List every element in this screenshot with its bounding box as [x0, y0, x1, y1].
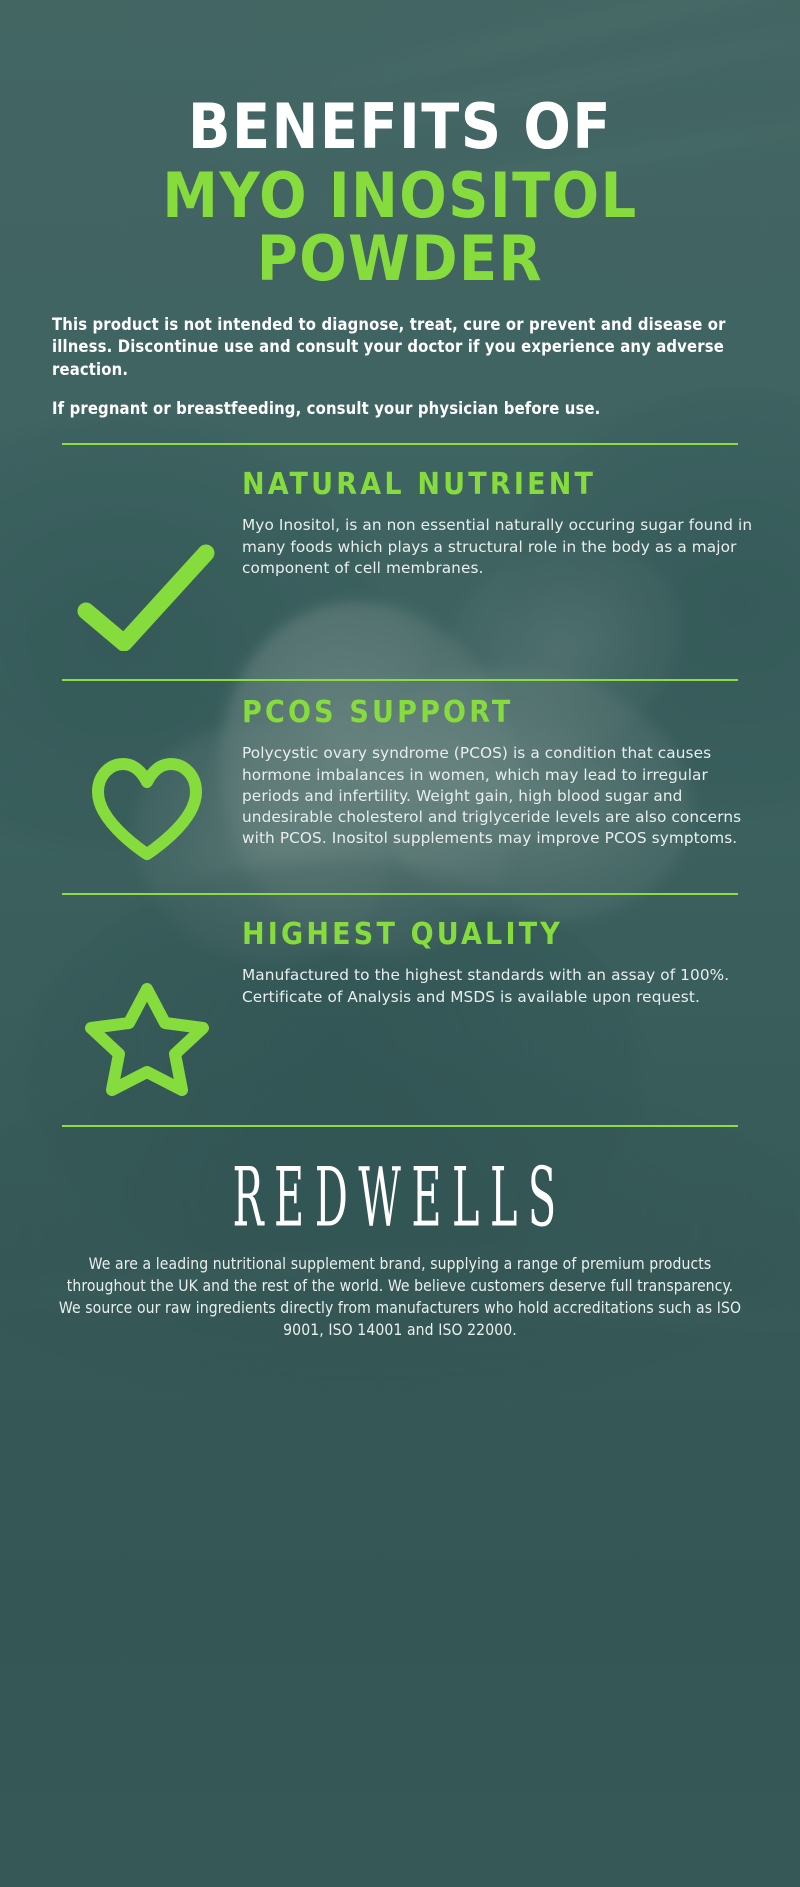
- headline-line-1: BENEFITS OF: [0, 98, 800, 156]
- benefit-title: HIGHEST QUALITY: [242, 917, 754, 954]
- benefit-body: Myo Inositol, is an non essential natura…: [242, 515, 754, 578]
- infographic-page: BENEFITS OF MYO INOSITOL POWDER This pro…: [0, 0, 800, 1887]
- page-title: BENEFITS OF MYO INOSITOL POWDER: [0, 0, 800, 288]
- heart-icon: [86, 753, 208, 865]
- benefit-text-container: HIGHEST QUALITY Manufactured to the high…: [242, 917, 760, 1008]
- benefit-icon-container: [52, 467, 242, 651]
- section-divider: [62, 443, 738, 445]
- benefit-body: Manufactured to the highest standards wi…: [242, 965, 754, 1007]
- disclaimer-paragraph-1: This product is not intended to diagnose…: [52, 314, 748, 381]
- benefit-section-natural-nutrient: NATURAL NUTRIENT Myo Inositol, is an non…: [0, 467, 800, 651]
- benefit-section-pcos-support: PCOS SUPPORT Polycystic ovary syndrome (…: [0, 695, 800, 865]
- star-icon: [85, 979, 209, 1097]
- benefit-title: PCOS SUPPORT: [242, 695, 754, 732]
- benefit-icon-container: [52, 695, 242, 865]
- disclaimer-paragraph-2: If pregnant or breastfeeding, consult yo…: [52, 398, 748, 420]
- benefit-section-highest-quality: HIGHEST QUALITY Manufactured to the high…: [0, 917, 800, 1097]
- disclaimer-block: This product is not intended to diagnose…: [52, 314, 748, 421]
- headline-line-2: MYO INOSITOL: [0, 167, 800, 225]
- footer-about-text: We are a leading nutritional supplement …: [58, 1253, 742, 1342]
- section-divider: [62, 893, 738, 895]
- benefit-body: Polycystic ovary syndrome (PCOS) is a co…: [242, 743, 754, 849]
- benefit-icon-container: [52, 917, 242, 1097]
- section-divider: [62, 679, 738, 681]
- headline-line-3: POWDER: [0, 230, 800, 288]
- benefit-title: NATURAL NUTRIENT: [242, 467, 754, 504]
- brand-name: REDWELLS: [233, 1157, 567, 1238]
- benefit-text-container: PCOS SUPPORT Polycystic ovary syndrome (…: [242, 695, 760, 849]
- section-divider: [62, 1125, 738, 1127]
- brand-logo: REDWELLS: [0, 1161, 800, 1235]
- benefit-text-container: NATURAL NUTRIENT Myo Inositol, is an non…: [242, 467, 760, 579]
- check-icon: [76, 539, 218, 651]
